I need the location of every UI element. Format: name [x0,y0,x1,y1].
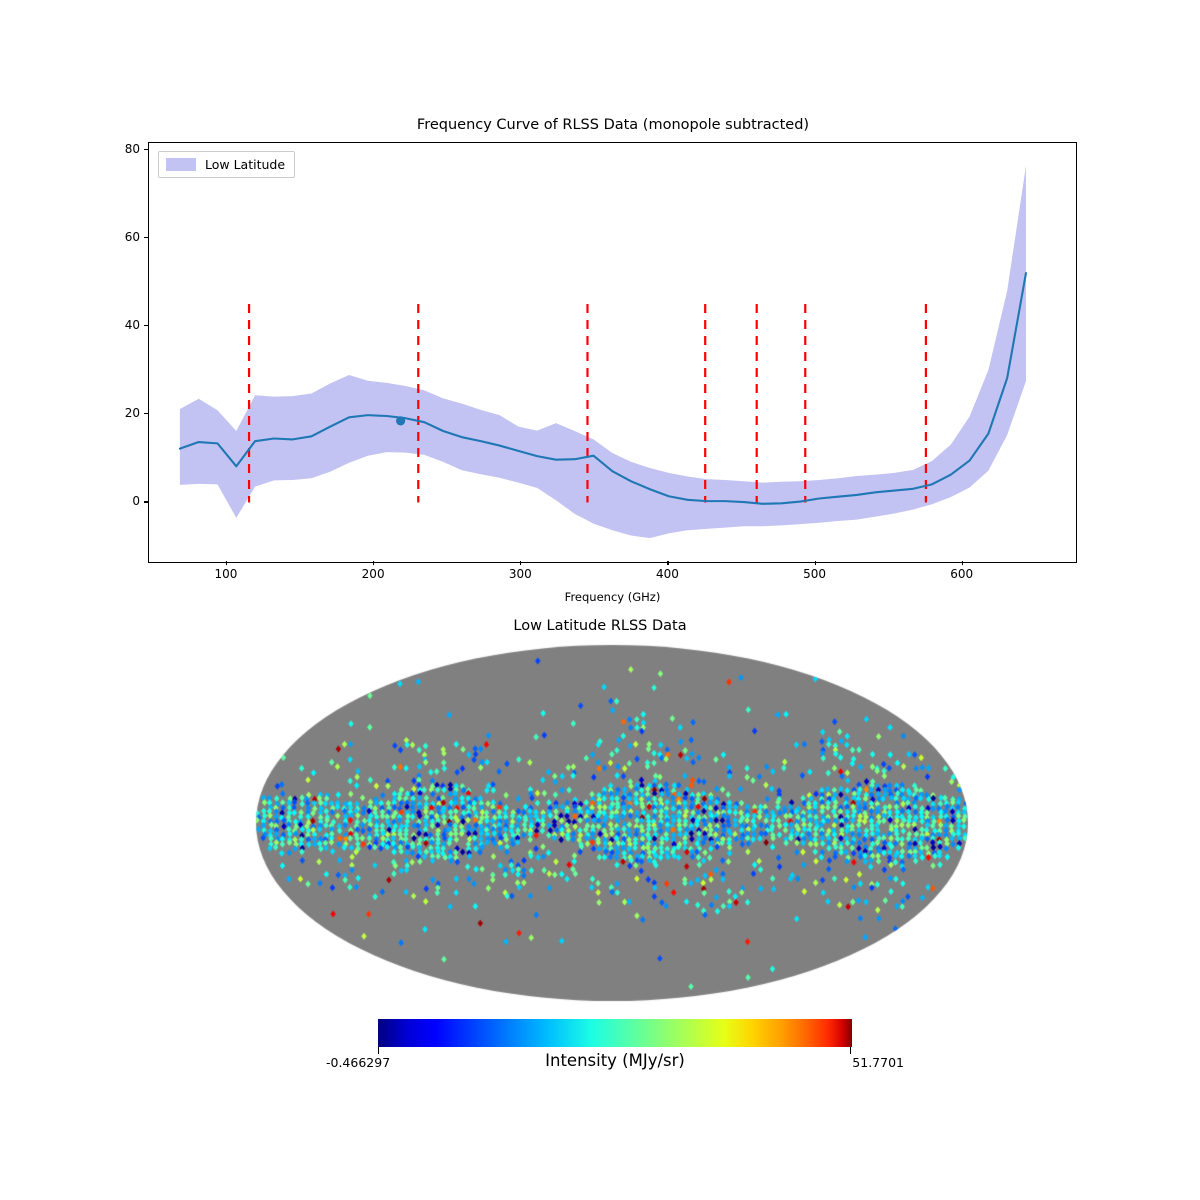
x-tick-mark [962,561,963,565]
y-tick-label: 80 [100,142,140,156]
y-tick-label: 60 [100,230,140,244]
mollweide-map-container [254,643,970,1003]
x-tick-mark [373,561,374,565]
y-tick-mark [144,149,148,150]
frequency-curve-svg [149,143,1076,562]
y-tick-label: 40 [100,318,140,332]
y-tick-mark [144,413,148,414]
mollweide-sky-map [254,643,970,1003]
x-tick-mark [667,561,668,565]
x-tick-mark [520,561,521,565]
legend-label-low-latitude: Low Latitude [205,157,285,172]
colorbar: -0.466297 51.7701 Intensity (MJy/sr) [378,1019,852,1099]
highlight-marker [396,416,405,425]
x-tick-mark [226,561,227,565]
legend-swatch-low-latitude [166,158,196,171]
y-tick-label: 0 [100,494,140,508]
y-tick-mark [144,325,148,326]
frequency-curve-panel: Frequency Curve of RLSS Data (monopole s… [0,0,1200,615]
x-tick-label: 500 [785,567,845,581]
sky-map-title: Low Latitude RLSS Data [0,618,1200,634]
frequency-plot-axes: Low Latitude [148,142,1077,563]
x-tick-mark [815,561,816,565]
frequency-plot-title: Frequency Curve of RLSS Data (monopole s… [148,117,1078,133]
frequency-plot-legend[interactable]: Low Latitude [158,151,295,178]
x-tick-label: 600 [932,567,992,581]
x-tick-label: 100 [196,567,256,581]
x-tick-label: 200 [343,567,403,581]
figure-canvas: Frequency Curve of RLSS Data (monopole s… [0,0,1200,1200]
y-tick-mark [144,501,148,502]
x-tick-label: 400 [637,567,697,581]
sky-map-panel: Low Latitude RLSS Data -0.466297 51.7701… [0,600,1200,1200]
y-tick-label: 20 [100,406,140,420]
y-tick-mark [144,237,148,238]
uncertainty-band [180,166,1026,538]
colorbar-label: Intensity (MJy/sr) [378,1051,852,1070]
colorbar-gradient [378,1019,852,1047]
x-tick-label: 300 [490,567,550,581]
